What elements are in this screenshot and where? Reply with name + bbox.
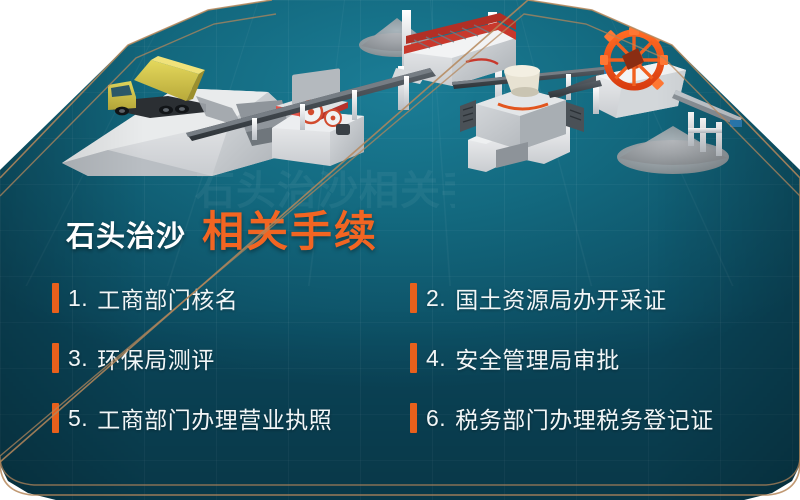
- list-item-label: 工商部门核名: [97, 281, 238, 315]
- poster-root: 石头治沙相关手续 石头治沙 相关手续 1. 工商部门核名 2. 国土资源局办开采…: [0, 0, 800, 500]
- bullet-bar-icon: [52, 283, 59, 313]
- list-item[interactable]: 4. 安全管理局审批: [410, 328, 752, 388]
- list-item-index: 1.: [68, 285, 88, 312]
- list-item-label: 环保局测评: [97, 341, 215, 375]
- list-item[interactable]: 5. 工商部门办理营业执照: [52, 388, 410, 448]
- title-prefix: 石头治沙: [66, 213, 186, 255]
- list-item[interactable]: 3. 环保局测评: [52, 328, 410, 388]
- list-item-index: 4.: [426, 345, 446, 372]
- list-item-label: 税务部门办理税务登记证: [455, 401, 714, 435]
- title-main: 相关手续: [202, 198, 378, 259]
- list-item-index: 3.: [68, 345, 88, 372]
- bullet-bar-icon: [410, 343, 417, 373]
- list-item-index: 6.: [426, 405, 446, 432]
- list-item-label: 工商部门办理营业执照: [97, 401, 332, 435]
- list-item[interactable]: 1. 工商部门核名: [52, 268, 410, 328]
- list-item[interactable]: 6. 税务部门办理税务登记证: [410, 388, 752, 448]
- bullet-bar-icon: [410, 283, 417, 313]
- list-item-index: 2.: [426, 285, 446, 312]
- bullet-bar-icon: [52, 343, 59, 373]
- bullet-bar-icon: [410, 403, 417, 433]
- list-item-label: 国土资源局办开采证: [455, 281, 667, 315]
- list-item[interactable]: 2. 国土资源局办开采证: [410, 268, 752, 328]
- bullet-bar-icon: [52, 403, 59, 433]
- list-item-index: 5.: [68, 405, 88, 432]
- poster-panel: 石头治沙相关手续 石头治沙 相关手续 1. 工商部门核名 2. 国土资源局办开采…: [0, 0, 800, 500]
- list-item-label: 安全管理局审批: [455, 341, 620, 375]
- procedure-list: 1. 工商部门核名 2. 国土资源局办开采证 3. 环保局测评 4. 安全管理局…: [52, 268, 752, 448]
- page-title: 石头治沙 相关手续: [66, 198, 378, 259]
